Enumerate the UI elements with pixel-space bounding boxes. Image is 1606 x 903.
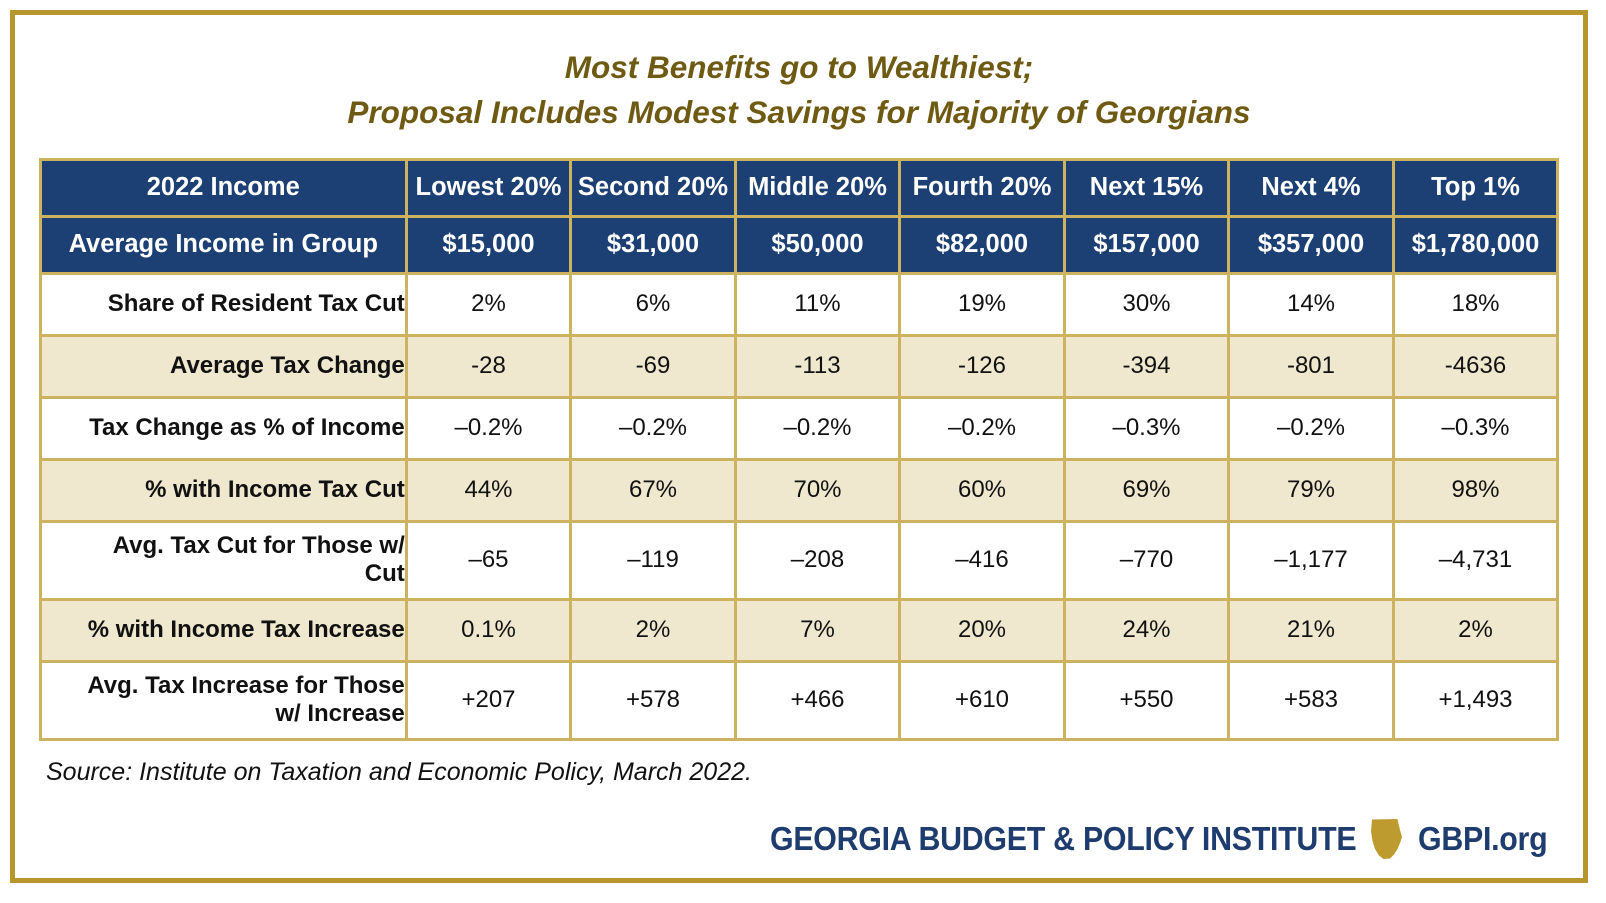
cell-r2-c5: –0.2% (1229, 397, 1394, 459)
page-title-line-1: Most Benefits go to Wealthiest; (33, 45, 1565, 90)
table-corner-header: 2022 Income (40, 159, 406, 216)
cell-r6-c5: +583 (1229, 661, 1394, 739)
cell-r1-c6: -4636 (1393, 335, 1558, 397)
cell-r1-c0: -28 (406, 335, 571, 397)
cell-r6-c1: +578 (571, 661, 736, 739)
cell-r2-c3: –0.2% (900, 397, 1065, 459)
cell-r2-c6: –0.3% (1393, 397, 1558, 459)
tax-distribution-table: 2022 Income Lowest 20% Second 20% Middle… (39, 158, 1560, 741)
column-header-middle-20: Middle 20% (735, 159, 900, 216)
column-header-next-15: Next 15% (1064, 159, 1229, 216)
row-label-text-line-1: Avg. Tax Increase for Those (87, 672, 404, 699)
cell-r5-c6: 2% (1393, 599, 1558, 661)
row-label-pct-with-income-tax-cut: % with Income Tax Cut (40, 459, 406, 521)
cell-r6-c4: +550 (1064, 661, 1229, 739)
table-row: Tax Change as % of Income –0.2% –0.2% –0… (40, 397, 1558, 459)
cell-r1-c3: -126 (900, 335, 1065, 397)
column-header-lowest-20: Lowest 20% (406, 159, 571, 216)
cell-average-income-1: $31,000 (571, 216, 736, 273)
cell-r2-c1: –0.2% (571, 397, 736, 459)
cell-average-income-4: $157,000 (1064, 216, 1229, 273)
cell-r5-c1: 2% (571, 599, 736, 661)
average-income-row: Average Income in Group $15,000 $31,000 … (40, 216, 1558, 273)
cell-r4-c2: –208 (735, 521, 900, 599)
cell-r2-c0: –0.2% (406, 397, 571, 459)
column-header-top-1: Top 1% (1393, 159, 1558, 216)
cell-r4-c1: –119 (571, 521, 736, 599)
row-label-text: % with Income Tax Cut (145, 476, 405, 503)
cell-average-income-2: $50,000 (735, 216, 900, 273)
cell-r3-c5: 79% (1229, 459, 1394, 521)
cell-r1-c2: -113 (735, 335, 900, 397)
column-header-next-4: Next 4% (1229, 159, 1394, 216)
georgia-state-shape-icon (1370, 818, 1404, 860)
table-row: % with Income Tax Increase 0.1% 2% 7% 20… (40, 599, 1558, 661)
cell-r0-c2: 11% (735, 273, 900, 335)
cell-average-income-6: $1,780,000 (1393, 216, 1558, 273)
cell-r0-c1: 6% (571, 273, 736, 335)
cell-r4-c0: –65 (406, 521, 571, 599)
cell-r6-c2: +466 (735, 661, 900, 739)
poster-content: Most Benefits go to Wealthiest; Proposal… (15, 15, 1583, 878)
logo-organization-name: GEORGIA BUDGET & POLICY INSTITUTE (770, 820, 1356, 858)
page-title-line-2: Proposal Includes Modest Savings for Maj… (33, 90, 1565, 135)
row-label-text-line-2: Cut (365, 560, 405, 587)
cell-r5-c5: 21% (1229, 599, 1394, 661)
cell-r6-c6: +1,493 (1393, 661, 1558, 739)
row-label-text-line-1: Avg. Tax Cut for Those w/ (113, 532, 405, 559)
row-label-text: % with Income Tax Increase (88, 616, 405, 643)
cell-r0-c0: 2% (406, 273, 571, 335)
cell-r3-c0: 44% (406, 459, 571, 521)
table-row: Avg. Tax Increase for Thosew/ Increase +… (40, 661, 1558, 739)
cell-r5-c0: 0.1% (406, 599, 571, 661)
cell-r4-c4: –770 (1064, 521, 1229, 599)
column-header-fourth-20: Fourth 20% (900, 159, 1065, 216)
row-label-avg-tax-increase-for-those-with-increase: Avg. Tax Increase for Thosew/ Increase (40, 661, 406, 739)
cell-r3-c1: 67% (571, 459, 736, 521)
table-row: Average Tax Change -28 -69 -113 -126 -39… (40, 335, 1558, 397)
source-note: Source: Institute on Taxation and Econom… (40, 741, 1558, 787)
row-label-text: Tax Change as % of Income (89, 414, 405, 441)
row-label-text: Share of Resident Tax Cut (108, 290, 405, 317)
row-label-average-income: Average Income in Group (40, 216, 406, 273)
cell-r2-c2: –0.2% (735, 397, 900, 459)
cell-r2-c4: –0.3% (1064, 397, 1229, 459)
cell-r6-c0: +207 (406, 661, 571, 739)
cell-r5-c4: 24% (1064, 599, 1229, 661)
cell-r1-c4: -394 (1064, 335, 1229, 397)
cell-r3-c4: 69% (1064, 459, 1229, 521)
row-label-share-of-resident-tax-cut: Share of Resident Tax Cut (40, 273, 406, 335)
cell-r0-c4: 30% (1064, 273, 1229, 335)
cell-r5-c3: 20% (900, 599, 1065, 661)
poster-frame: Most Benefits go to Wealthiest; Proposal… (10, 10, 1588, 883)
cell-r3-c6: 98% (1393, 459, 1558, 521)
row-label-avg-tax-cut-for-those-with-cut: Avg. Tax Cut for Those w/Cut (40, 521, 406, 599)
cell-r0-c5: 14% (1229, 273, 1394, 335)
table-row: Avg. Tax Cut for Those w/Cut –65 –119 –2… (40, 521, 1558, 599)
row-label-average-tax-change: Average Tax Change (40, 335, 406, 397)
table-header-row: 2022 Income Lowest 20% Second 20% Middle… (40, 159, 1558, 216)
cell-average-income-0: $15,000 (406, 216, 571, 273)
row-label-text: Average Tax Change (170, 352, 405, 379)
cell-r3-c2: 70% (735, 459, 900, 521)
gbpi-logo: GEORGIA BUDGET & POLICY INSTITUTE GBPI.o… (719, 818, 1559, 860)
logo-url: GBPI.org (1418, 820, 1547, 858)
cell-average-income-5: $357,000 (1229, 216, 1394, 273)
cell-r4-c3: –416 (900, 521, 1065, 599)
cell-r1-c1: -69 (571, 335, 736, 397)
table-row: % with Income Tax Cut 44% 67% 70% 60% 69… (40, 459, 1558, 521)
cell-r5-c2: 7% (735, 599, 900, 661)
cell-r4-c5: –1,177 (1229, 521, 1394, 599)
cell-r3-c3: 60% (900, 459, 1065, 521)
row-label-text-line-2: w/ Increase (275, 700, 404, 727)
cell-r0-c6: 18% (1393, 273, 1558, 335)
cell-r4-c6: –4,731 (1393, 521, 1558, 599)
table-row: Share of Resident Tax Cut 2% 6% 11% 19% … (40, 273, 1558, 335)
column-header-second-20: Second 20% (571, 159, 736, 216)
row-label-tax-change-as-pct-of-income: Tax Change as % of Income (40, 397, 406, 459)
cell-r6-c3: +610 (900, 661, 1065, 739)
cell-r0-c3: 19% (900, 273, 1065, 335)
row-label-pct-with-income-tax-increase: % with Income Tax Increase (40, 599, 406, 661)
cell-average-income-3: $82,000 (900, 216, 1065, 273)
cell-r1-c5: -801 (1229, 335, 1394, 397)
page-title: Most Benefits go to Wealthiest; Proposal… (33, 15, 1565, 158)
